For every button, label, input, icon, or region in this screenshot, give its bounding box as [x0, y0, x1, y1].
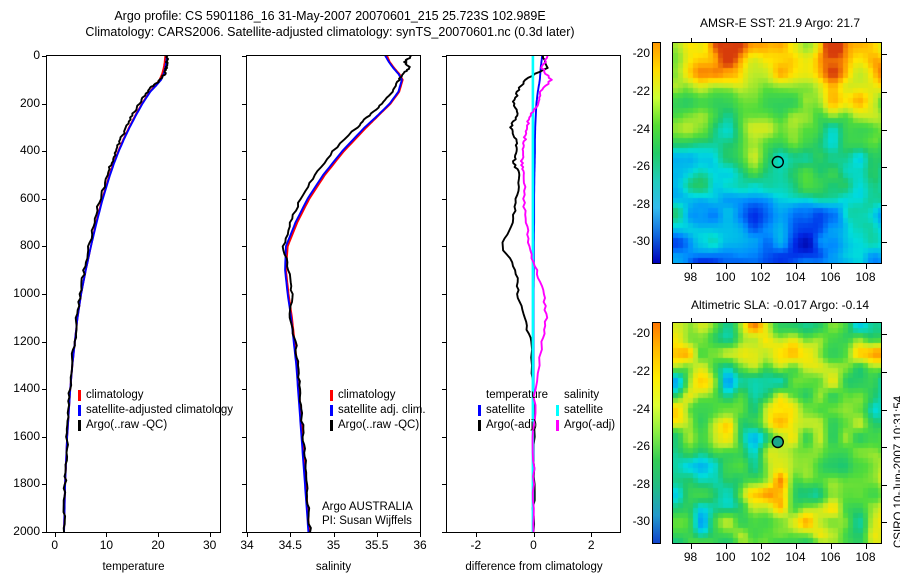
- x-tick-label: 35.5: [359, 538, 395, 552]
- y-tick-label: 1800: [0, 476, 40, 490]
- y-tick-label: 2000: [0, 524, 40, 538]
- sla-map[interactable]: [672, 322, 882, 544]
- lat-tick-label: -20: [610, 326, 650, 340]
- y-tick-label: 1200: [0, 334, 40, 348]
- lat-tick-label: -24: [610, 402, 650, 416]
- profile-location-marker: [772, 437, 783, 448]
- profile-location-marker: [772, 157, 783, 168]
- legend-item: Argo(-adj): [556, 418, 615, 433]
- sla-marker-layer: [673, 323, 882, 544]
- lon-tick-label: 102: [743, 550, 779, 564]
- salinity-profile-plot: [246, 55, 421, 533]
- lat-tick-label: -30: [610, 234, 650, 248]
- difference-axis-label: difference from climatology: [438, 561, 630, 573]
- lon-tick-label: 106: [813, 270, 849, 284]
- temperature-profile-plot: [46, 55, 221, 533]
- title-line-2: Climatology: CARS2006. Satellite-adjuste…: [0, 24, 660, 40]
- sst-colorbar: [652, 42, 661, 264]
- difference-curves: [447, 56, 620, 532]
- y-tick-label: 1400: [0, 381, 40, 395]
- salinity-legend: climatology satellite adj. clim. Argo(..…: [330, 388, 426, 433]
- lat-tick-label: -26: [610, 439, 650, 453]
- lon-tick-label: 108: [848, 270, 884, 284]
- legend-swatch-temp-argo: [478, 420, 481, 431]
- legend-item: climatology: [78, 388, 233, 403]
- x-tick-label: 36: [402, 538, 438, 552]
- y-tick-label: 400: [0, 143, 40, 157]
- lat-tick-label: -22: [610, 364, 650, 378]
- salinity-curves: [247, 56, 420, 532]
- legend-swatch-climatology: [330, 390, 333, 401]
- lon-tick-label: 100: [708, 270, 744, 284]
- difference-legend-temperature: temperature satellite Argo(-adj): [478, 388, 548, 433]
- lat-tick-label: -26: [610, 159, 650, 173]
- x-tick-label: -2: [458, 538, 494, 552]
- legend-item: Argo(..raw -QC): [330, 418, 426, 433]
- legend-label: Argo(-adj): [486, 418, 537, 433]
- difference-profile-plot: [446, 55, 621, 533]
- legend-swatch-argo: [330, 420, 333, 431]
- legend-label: satellite: [564, 403, 603, 418]
- legend-item: satellite-adjusted climatology: [78, 403, 233, 418]
- y-tick-label: 1000: [0, 286, 40, 300]
- legend-heading: salinity: [564, 388, 599, 403]
- temperature-curves: [47, 56, 220, 532]
- legend-label: satellite-adjusted climatology: [86, 403, 233, 418]
- legend-item: satellite adj. clim.: [330, 403, 426, 418]
- difference-legend-salinity: salinity satellite Argo(-adj): [556, 388, 615, 433]
- lat-tick-label: -30: [610, 514, 650, 528]
- x-tick-label: 10: [88, 538, 124, 552]
- legend-swatch-satellite: [78, 405, 81, 416]
- y-tick-label: 0: [0, 48, 40, 62]
- colorbar-gradient: [653, 43, 660, 263]
- salinity-axis-label: salinity: [246, 561, 421, 573]
- lon-tick-label: 108: [848, 550, 884, 564]
- legend-spacer: [478, 390, 481, 401]
- lat-tick-label: -22: [610, 84, 650, 98]
- x-tick-label: 0: [37, 538, 73, 552]
- temperature-axis-label: temperature: [46, 561, 221, 573]
- legend-label: climatology: [338, 388, 396, 403]
- legend-label: Argo(..raw -QC): [86, 418, 167, 433]
- legend-item: satellite: [478, 403, 548, 418]
- lon-tick-label: 104: [778, 550, 814, 564]
- x-tick-label: 34.5: [272, 538, 308, 552]
- temperature-legend: climatology satellite-adjusted climatolo…: [78, 388, 233, 433]
- legend-heading-row: salinity: [556, 388, 615, 403]
- legend-swatch-sal-argo: [556, 420, 559, 431]
- colorbar-gradient: [653, 323, 660, 543]
- x-tick-label: 2: [573, 538, 609, 552]
- legend-item: satellite: [556, 403, 615, 418]
- lon-tick-label: 100: [708, 550, 744, 564]
- legend-spacer: [556, 390, 559, 401]
- x-tick-label: 20: [140, 538, 176, 552]
- program-name: Argo AUSTRALIA: [322, 500, 413, 514]
- lon-tick-label: 98: [673, 270, 709, 284]
- sla-map-title: Altimetric SLA: -0.017 Argo: -0.14: [660, 298, 900, 312]
- lat-tick-label: -20: [610, 46, 650, 60]
- lon-tick-label: 102: [743, 270, 779, 284]
- csiro-timestamp: CSIRO 10-Jun-2007 10:31:54: [893, 396, 900, 548]
- x-tick-label: 0: [516, 538, 552, 552]
- lat-tick-label: -28: [610, 197, 650, 211]
- y-tick-label: 200: [0, 96, 40, 110]
- legend-swatch-argo: [78, 420, 81, 431]
- lat-tick-label: -24: [610, 122, 650, 136]
- y-tick-label: 800: [0, 238, 40, 252]
- legend-swatch-temp-satellite: [478, 405, 481, 416]
- x-tick-label: 35: [316, 538, 352, 552]
- y-tick-label: 1600: [0, 429, 40, 443]
- legend-swatch-climatology: [78, 390, 81, 401]
- lon-tick-label: 104: [778, 270, 814, 284]
- title-line-1: Argo profile: CS 5901186_16 31-May-2007 …: [0, 8, 660, 24]
- legend-item: Argo(..raw -QC): [78, 418, 233, 433]
- legend-label: satellite adj. clim.: [338, 403, 426, 418]
- legend-swatch-sal-satellite: [556, 405, 559, 416]
- legend-label: Argo(..raw -QC): [338, 418, 419, 433]
- legend-label: Argo(-adj): [564, 418, 615, 433]
- principal-investigator: PI: Susan Wijffels: [322, 514, 413, 528]
- legend-label: satellite: [486, 403, 525, 418]
- sst-marker-layer: [673, 43, 882, 264]
- x-tick-label: 34: [229, 538, 265, 552]
- lat-tick-label: -28: [610, 477, 650, 491]
- lon-tick-label: 98: [673, 550, 709, 564]
- y-tick-label: 600: [0, 191, 40, 205]
- argo-program-credit: Argo AUSTRALIA PI: Susan Wijffels: [322, 500, 413, 528]
- lon-tick-label: 106: [813, 550, 849, 564]
- sst-map[interactable]: [672, 42, 882, 264]
- legend-swatch-satellite: [330, 405, 333, 416]
- sst-map-title: AMSR-E SST: 21.9 Argo: 21.7: [660, 16, 900, 30]
- legend-label: climatology: [86, 388, 144, 403]
- legend-heading-row: temperature: [478, 388, 548, 403]
- legend-item: climatology: [330, 388, 426, 403]
- sla-colorbar: [652, 322, 661, 544]
- legend-item: Argo(-adj): [478, 418, 548, 433]
- x-tick-label: 30: [192, 538, 228, 552]
- page-title: Argo profile: CS 5901186_16 31-May-2007 …: [0, 8, 660, 40]
- legend-heading: temperature: [486, 388, 548, 403]
